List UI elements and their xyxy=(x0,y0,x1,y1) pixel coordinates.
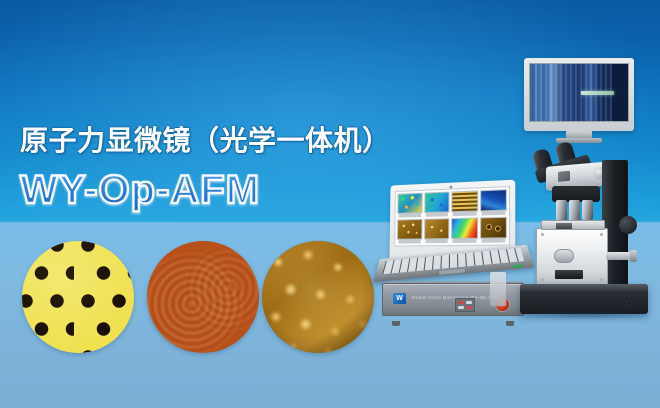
microscope-monitor xyxy=(524,58,634,131)
scan-caption-7 xyxy=(451,239,477,243)
scanner-screw-top-left xyxy=(541,233,544,236)
indicator-led-4 xyxy=(466,306,472,309)
scan-thumbnail-1 xyxy=(397,193,422,218)
granite-top-edge xyxy=(520,284,648,291)
scan-image-3 xyxy=(451,190,477,211)
granite-hole-right xyxy=(627,301,632,306)
scan-thumbnail-3 xyxy=(451,190,477,216)
sample-image-spiral-topography xyxy=(147,241,259,353)
granite-hole-left xyxy=(534,301,539,306)
scan-thumbnail-2 xyxy=(424,192,450,217)
controller-brand-logo: W xyxy=(393,293,406,304)
monitor-dark-edge xyxy=(612,64,628,121)
head-brand-logo xyxy=(558,171,570,182)
monitor-screen xyxy=(529,63,629,122)
controller-indicator-panel xyxy=(455,298,475,312)
scan-caption-6 xyxy=(424,239,450,243)
scan-image-1 xyxy=(397,193,422,214)
background-accessory xyxy=(490,272,506,306)
scan-image-5 xyxy=(397,219,422,239)
product-model-text: WY-Op-AFM xyxy=(20,166,260,214)
scan-thumbnail-7 xyxy=(451,218,478,244)
spiral-rings-secondary xyxy=(147,241,259,353)
scan-image-2 xyxy=(424,192,450,213)
scanner-adjust-knob[interactable] xyxy=(554,249,574,263)
dot-array-shading xyxy=(22,241,134,353)
laptop-touchpad xyxy=(439,269,465,275)
focus-knob[interactable] xyxy=(619,216,637,234)
granular-vignette xyxy=(262,241,374,353)
indicator-led-3 xyxy=(458,306,464,309)
scanner-screw-top-right xyxy=(600,233,603,236)
controller-foot-left xyxy=(392,321,400,326)
indicator-led-1 xyxy=(458,301,464,304)
indicator-led-2 xyxy=(466,301,472,304)
sample-image-dot-array xyxy=(22,241,134,353)
sample-image-granular-surface xyxy=(262,241,374,353)
scan-caption-1 xyxy=(397,213,422,218)
scan-caption-3 xyxy=(451,211,477,216)
scanner-screw-bottom-right xyxy=(600,278,603,281)
product-title-chinese: 原子力显微镜（光学一体机） xyxy=(20,124,391,158)
scan-caption-2 xyxy=(424,212,449,217)
scan-image-7 xyxy=(451,218,477,239)
scanner-label-plate xyxy=(555,270,583,279)
banner-image: WY-Op-AFM 原子力显微镜（光学一体机） WY-Op-AFM xyxy=(0,0,660,408)
objective-lens-3 xyxy=(582,200,593,222)
scan-caption-5 xyxy=(397,239,422,243)
scan-image-6 xyxy=(424,218,450,239)
afm-scanner-stage xyxy=(536,228,608,286)
scan-thumbnail-5 xyxy=(397,219,422,244)
scanner-screw-bottom-left xyxy=(541,278,544,281)
scanner-top-rail xyxy=(541,220,605,230)
microscope-assembly xyxy=(498,58,660,328)
laptop-screen xyxy=(394,186,510,246)
scan-thumbnail-6 xyxy=(424,218,450,243)
scanner-side-rod xyxy=(606,252,632,260)
cantilever-probe-view xyxy=(581,91,614,95)
microscope-shadow xyxy=(516,310,652,320)
